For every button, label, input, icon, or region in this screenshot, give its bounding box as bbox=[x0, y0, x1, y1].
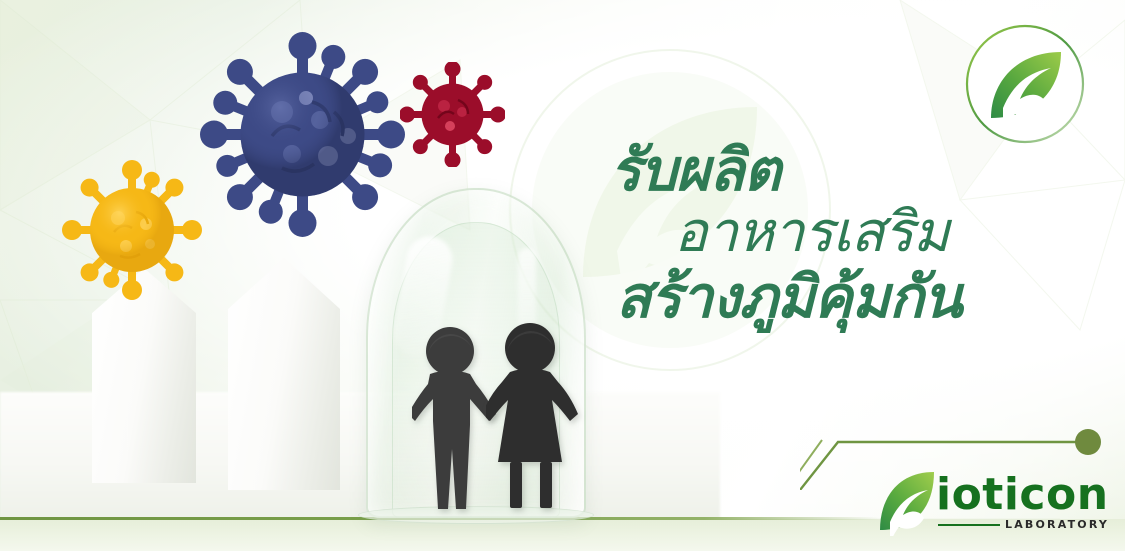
brand-text: ioticon LABORATORY bbox=[936, 473, 1109, 531]
bioticon-brand-lockup[interactable]: ioticon LABORATORY bbox=[876, 466, 1109, 538]
decorative-dot bbox=[1075, 429, 1101, 455]
brand-rule bbox=[938, 524, 1000, 526]
bioticon-leaf-icon bbox=[876, 468, 938, 536]
headline-line-1: รับผลิต bbox=[610, 140, 1070, 200]
paper-figure-woman bbox=[486, 322, 578, 512]
headline-block: รับผลิต อาหารเสริม สร้างภูมิคุ้มกัน bbox=[600, 140, 1070, 327]
bioticon-logo-top[interactable] bbox=[963, 22, 1087, 146]
headline-line-3: สร้างภูมิคุ้มกัน bbox=[616, 267, 1070, 327]
headline-line-2: อาหารเสริม bbox=[674, 204, 1070, 262]
brand-subtitle: LABORATORY bbox=[1005, 518, 1109, 531]
virus-yellow-icon bbox=[62, 160, 202, 300]
virus-red-icon bbox=[400, 62, 505, 167]
paper-house-left bbox=[92, 268, 196, 483]
promo-banner: รับผลิต อาหารเสริม สร้างภูมิคุ้มกัน bbox=[0, 0, 1125, 551]
brand-wordmark: ioticon bbox=[936, 473, 1109, 517]
